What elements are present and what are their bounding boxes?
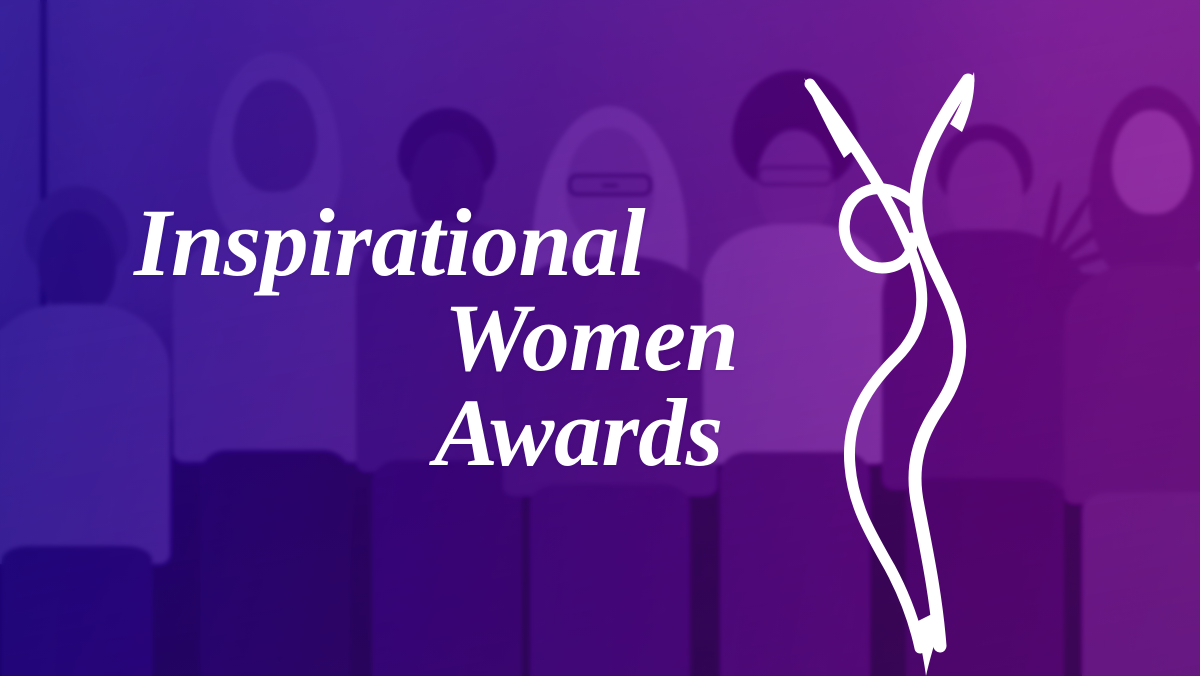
abstract-female-silhouette-logo-icon: [790, 62, 1040, 662]
inspirational-women-awards-banner: Inspirational Women Awards: [0, 0, 1200, 676]
page-title: Inspirational Women Awards: [134, 196, 874, 479]
title-line-1: Inspirational: [134, 196, 874, 289]
